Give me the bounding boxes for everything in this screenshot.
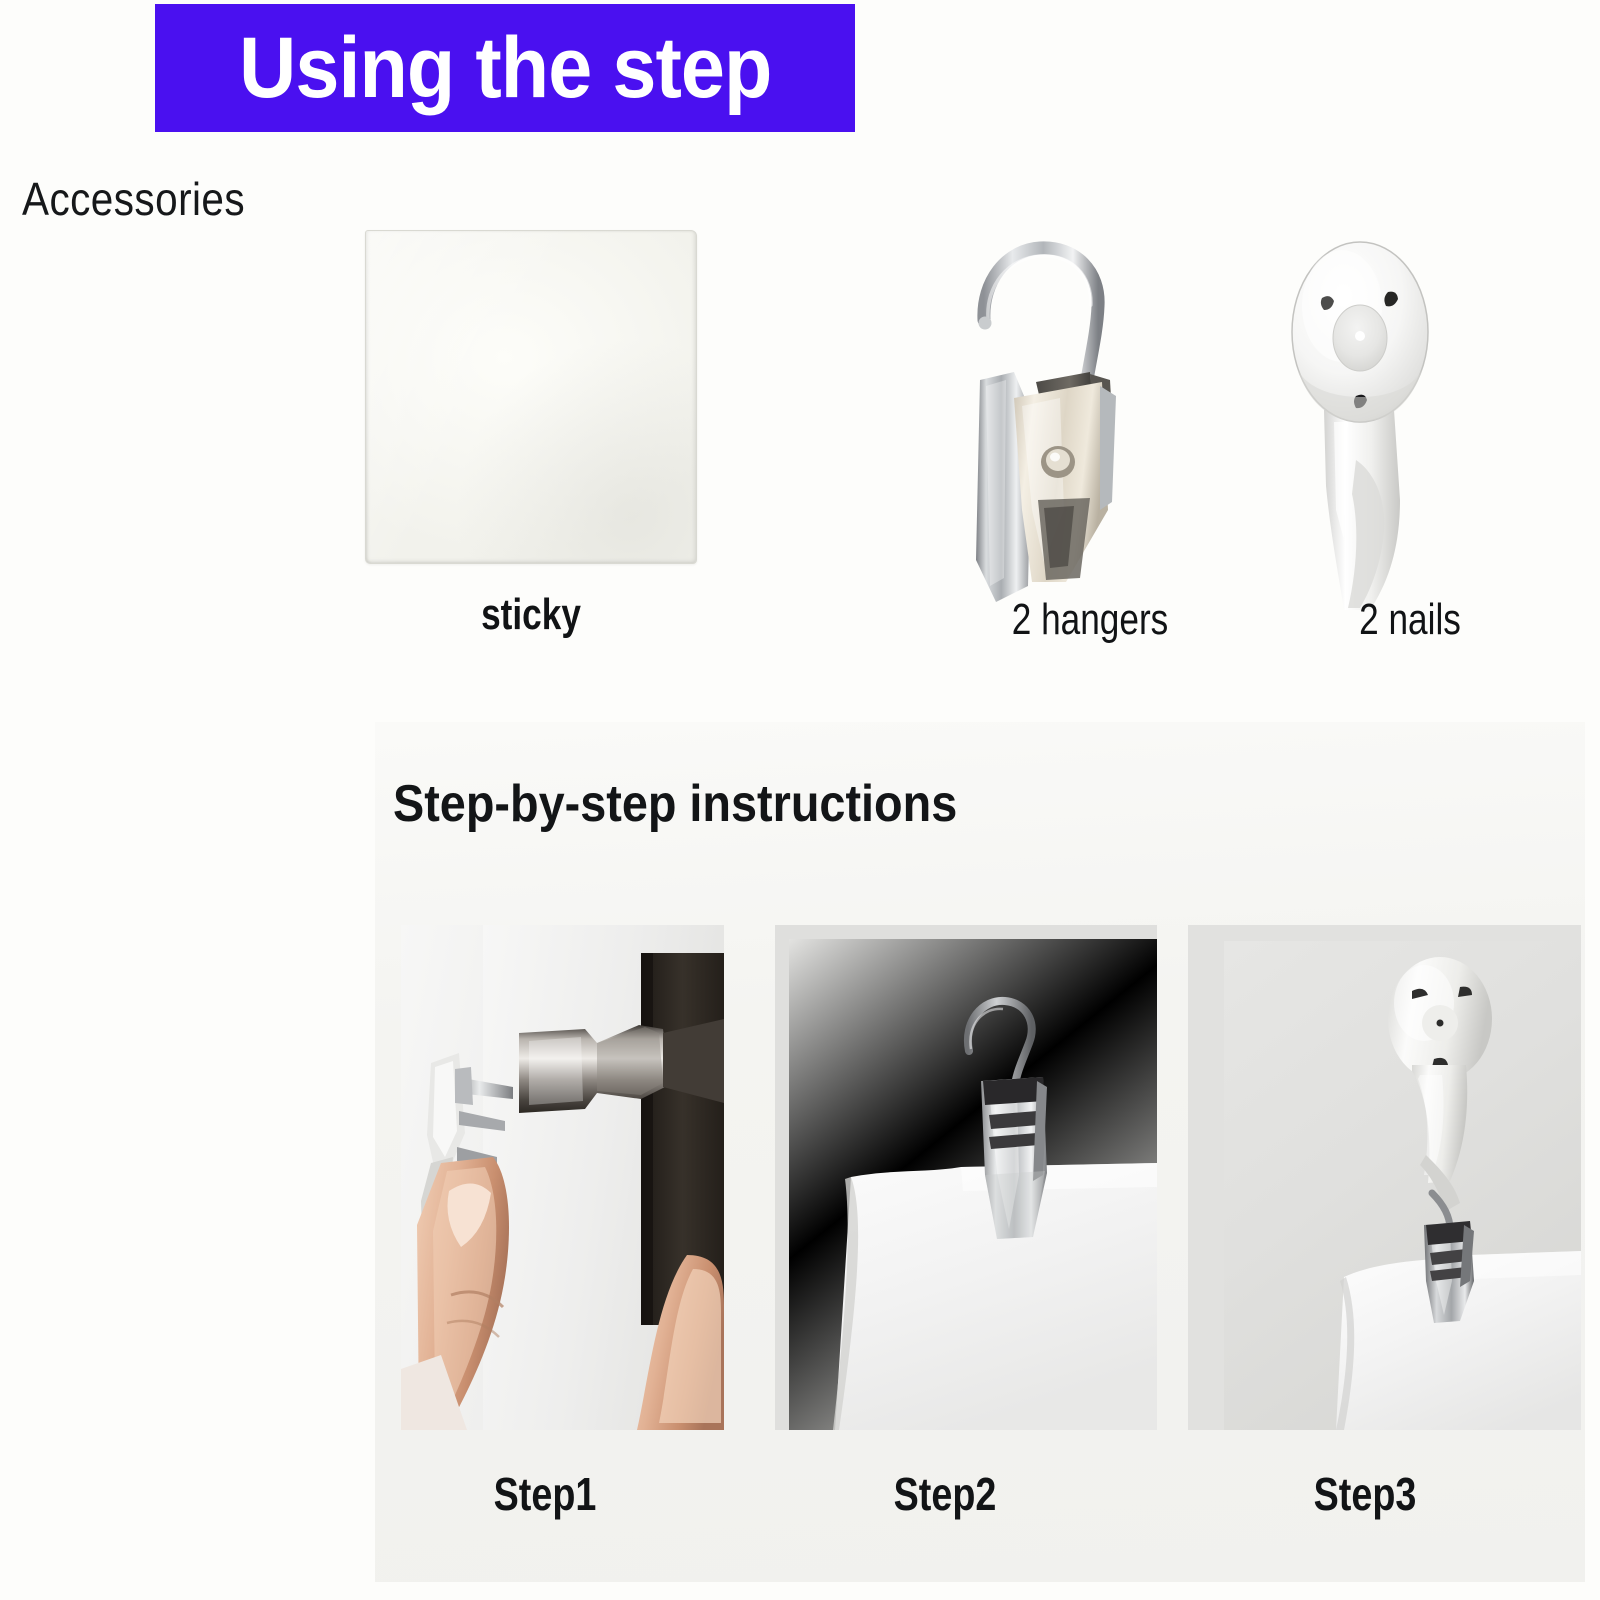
wall-hook-icon (1360, 210, 1460, 620)
accessory-label-hangers: 2 hangers (930, 595, 1250, 645)
accessory-item-sticky: sticky (365, 230, 697, 564)
page-title: Using the step (239, 25, 771, 111)
accessory-item-hangers: 2 hangers (1040, 210, 1140, 620)
accessory-label-nails: 2 nails (1250, 595, 1570, 645)
instructions-panel: Step-by-step instructions (375, 722, 1585, 1582)
accessory-item-nails: 2 nails (1360, 210, 1460, 620)
accessories-row: sticky (0, 210, 1600, 680)
step-1-photo (401, 925, 724, 1430)
hanger-clip-icon (1040, 210, 1140, 620)
step-2-caption: Step2 (781, 1467, 1109, 1521)
page-title-banner: Using the step (155, 4, 855, 132)
step-3-photo (1188, 925, 1581, 1430)
step-photos-row (393, 925, 1585, 1433)
step-3-caption: Step3 (1201, 1467, 1529, 1521)
step-2-photo (775, 925, 1157, 1430)
accessory-label-sticky: sticky (371, 590, 691, 640)
step-1-caption: Step1 (381, 1467, 709, 1521)
adhesive-pad-icon (365, 230, 697, 564)
instructions-heading: Step-by-step instructions (393, 774, 957, 834)
